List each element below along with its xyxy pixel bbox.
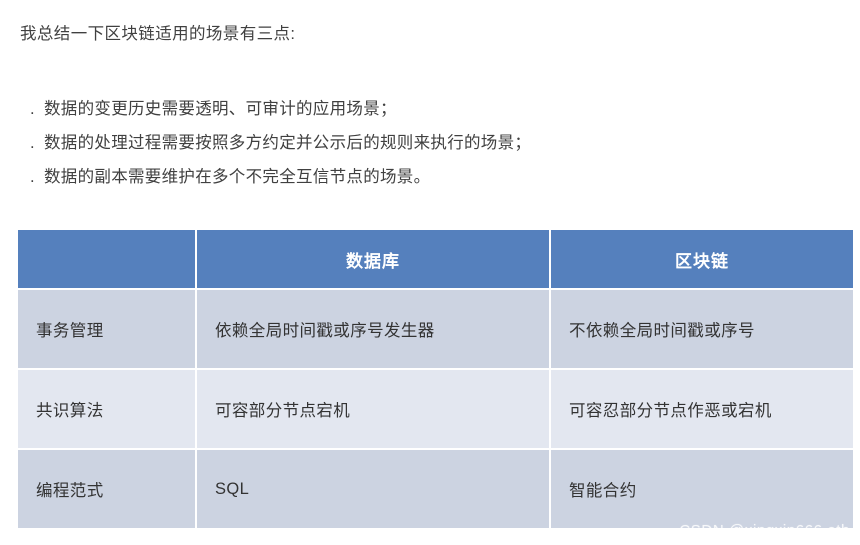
table-header-cell-database: 数据库 (197, 230, 551, 290)
document-page: 我总结一下区块链适用的场景有三点: . 数据的变更历史需要透明、可审计的应用场景… (0, 0, 860, 545)
row-label-programming-paradigm: 编程范式 (18, 450, 197, 528)
table-header: 数据库 区块链 (18, 230, 853, 290)
table-header-cell-blockchain: 区块链 (551, 230, 853, 290)
intro-paragraph: 我总结一下区块链适用的场景有三点: (20, 22, 295, 46)
list-item-label: 数据的副本需要维护在多个不完全互信节点的场景。 (44, 160, 430, 194)
table-header-row: 数据库 区块链 (18, 230, 853, 290)
list-item: . 数据的处理过程需要按照多方约定并公示后的规则来执行的场景； (30, 126, 830, 160)
cell-blockchain-consensus-algorithm: 可容忍部分节点作恶或宕机 (551, 370, 853, 450)
table-header-cell-blank (18, 230, 197, 290)
list-item-label: 数据的变更历史需要透明、可审计的应用场景； (44, 92, 397, 126)
comparison-table: 数据库 区块链 事务管理 依赖全局时间戳或序号发生器 不依赖全局时间戳或序号 共… (18, 230, 853, 528)
table-body: 事务管理 依赖全局时间戳或序号发生器 不依赖全局时间戳或序号 共识算法 可容部分… (18, 290, 853, 528)
cell-database-programming-paradigm: SQL (197, 450, 551, 528)
cell-database-transaction-management: 依赖全局时间戳或序号发生器 (197, 290, 551, 370)
bullet-dot-icon: . (30, 92, 44, 126)
table-row: 编程范式 SQL 智能合约 (18, 450, 853, 528)
cell-blockchain-programming-paradigm: 智能合约 (551, 450, 853, 528)
list-item: . 数据的副本需要维护在多个不完全互信节点的场景。 (30, 160, 830, 194)
list-item-label: 数据的处理过程需要按照多方约定并公示后的规则来执行的场景； (44, 126, 531, 160)
scenario-bullet-list: . 数据的变更历史需要透明、可审计的应用场景； . 数据的处理过程需要按照多方约… (30, 92, 830, 194)
table-row: 事务管理 依赖全局时间戳或序号发生器 不依赖全局时间戳或序号 (18, 290, 853, 370)
bullet-dot-icon: . (30, 126, 44, 160)
bullet-dot-icon: . (30, 160, 44, 194)
cell-blockchain-transaction-management: 不依赖全局时间戳或序号 (551, 290, 853, 370)
row-label-consensus-algorithm: 共识算法 (18, 370, 197, 450)
row-label-transaction-management: 事务管理 (18, 290, 197, 370)
table-row: 共识算法 可容部分节点宕机 可容忍部分节点作恶或宕机 (18, 370, 853, 450)
cell-database-consensus-algorithm: 可容部分节点宕机 (197, 370, 551, 450)
list-item: . 数据的变更历史需要透明、可审计的应用场景； (30, 92, 830, 126)
